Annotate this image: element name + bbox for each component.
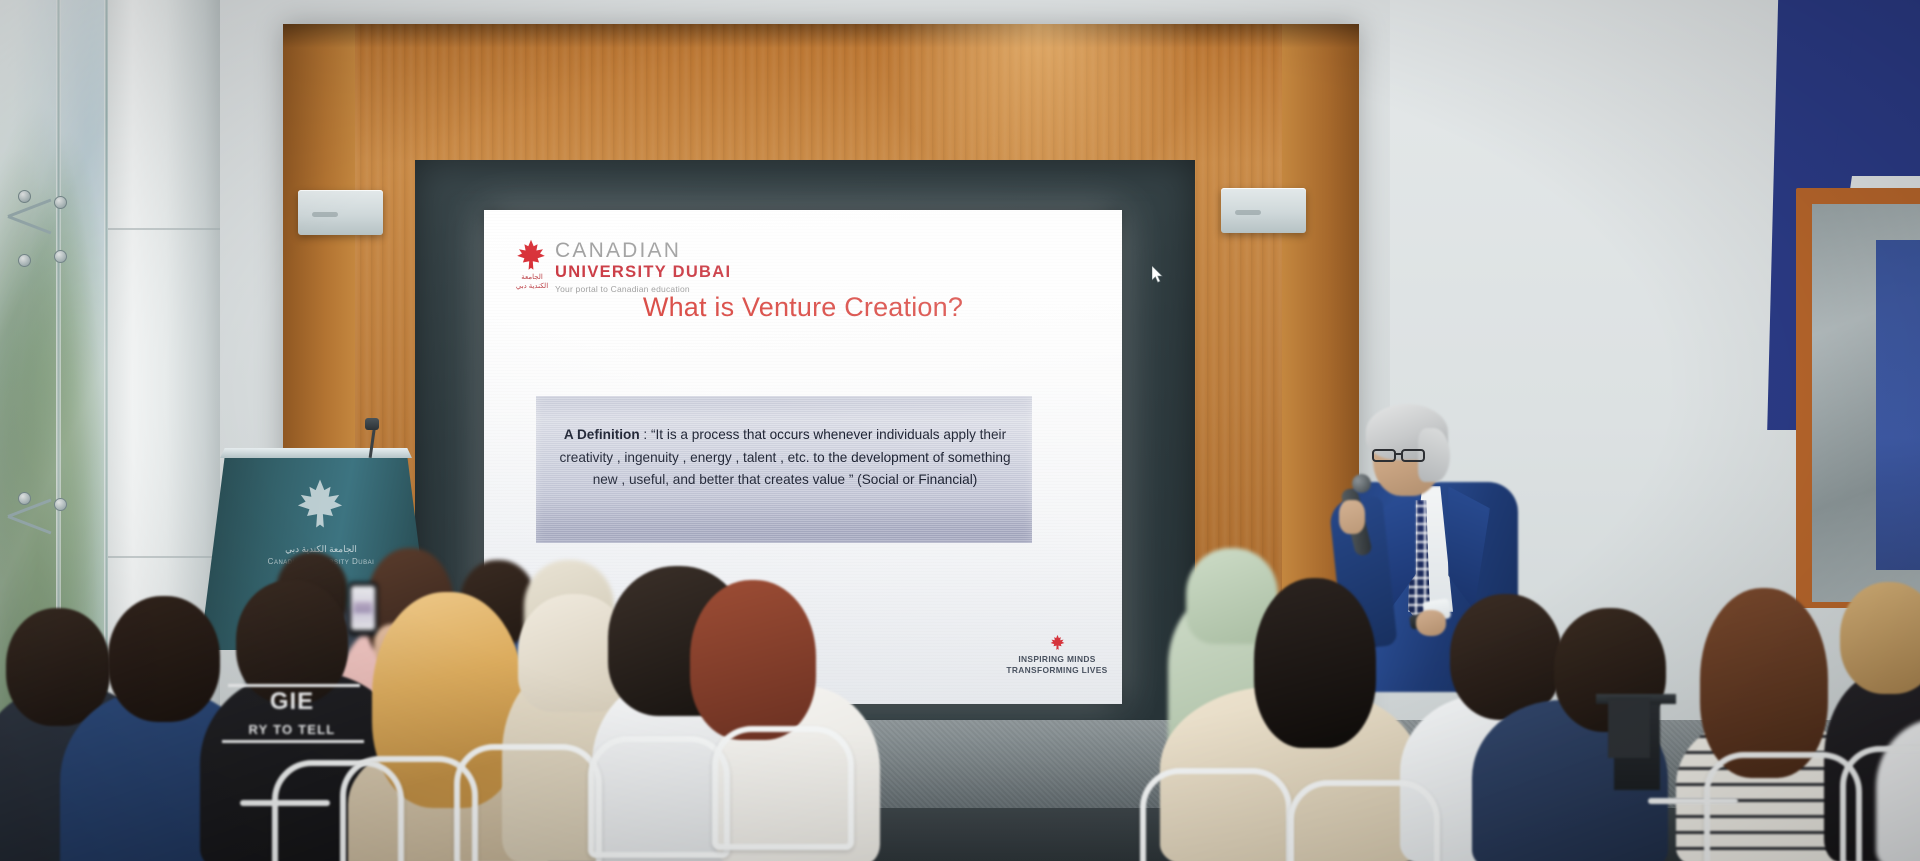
mouse-pointer-icon[interactable] — [1152, 266, 1164, 284]
logo-arabic-name: الجامعة الكندية دبي — [512, 274, 552, 292]
logo-line-canadian: CANADIAN — [555, 240, 731, 261]
footer-line-2: TRANSFORMING LIVES — [1002, 665, 1112, 676]
attendee-head — [6, 608, 110, 726]
chair-rail — [240, 800, 330, 806]
glass-bolt — [54, 250, 67, 263]
presentation-room-photo: TH CANADIAN UNIVERSITY DUBAI — [0, 0, 1920, 861]
glass-bolt — [18, 190, 31, 203]
maple-leaf-icon — [1050, 634, 1065, 651]
wall-speaker-right — [1221, 188, 1306, 233]
slide-definition-text: A Definition : “It is a process that occ… — [546, 424, 1024, 492]
tshirt-line-1: GIE — [232, 690, 352, 714]
attendee-head — [108, 596, 220, 722]
tshirt-line-2: RY TO TELL — [222, 722, 362, 737]
column-seam — [108, 556, 220, 558]
slide-title: What is Venture Creation? — [484, 292, 1122, 323]
glass-bolt — [18, 254, 31, 267]
wall-speaker-left — [298, 190, 383, 235]
side-stand-leg — [1608, 698, 1650, 758]
presenter-hand-right — [1416, 610, 1446, 636]
smartphone-slide-preview — [354, 602, 372, 613]
eyeglasses-icon — [1372, 448, 1428, 463]
chair[interactable] — [1140, 768, 1292, 861]
attendee-hair — [690, 580, 816, 740]
spider-fitting-icon — [8, 200, 54, 230]
lectern-top — [199, 448, 433, 458]
maple-leaf-icon — [516, 238, 546, 272]
chair[interactable] — [588, 736, 730, 858]
chair[interactable] — [1288, 780, 1440, 861]
column-seam — [108, 228, 220, 230]
definition-separator: : — [640, 427, 651, 442]
spider-fitting-icon — [8, 500, 54, 530]
glass-bolt — [54, 498, 67, 511]
chair[interactable] — [454, 744, 602, 861]
slide-footer-tagline: INSPIRING MINDS TRANSFORMING LIVES — [1002, 634, 1112, 676]
tshirt-rule-bottom — [222, 740, 364, 743]
maple-leaf-icon — [296, 476, 344, 532]
footer-line-1: INSPIRING MINDS — [1002, 654, 1112, 665]
attendee-head — [1840, 582, 1920, 694]
attendee-hair — [1700, 588, 1828, 778]
glass-bolt — [18, 492, 31, 505]
chair[interactable] — [1840, 746, 1920, 861]
chair[interactable] — [712, 726, 854, 850]
presenter-hand-left — [1339, 500, 1365, 534]
glass-bolt — [54, 196, 67, 209]
wall-signage-text: TH — [1838, 0, 1877, 26]
lectern-mic-head — [365, 418, 379, 430]
logo-line-university-dubai: UNIVERSITY DUBAI — [555, 264, 731, 281]
chair-rail — [1648, 798, 1738, 804]
door-glass-blue-reflection — [1876, 240, 1920, 570]
tshirt-rule-top — [228, 684, 360, 687]
chair[interactable] — [1704, 752, 1862, 861]
attendee-hair-ponytail — [1254, 578, 1376, 748]
definition-label: A Definition — [564, 427, 640, 442]
